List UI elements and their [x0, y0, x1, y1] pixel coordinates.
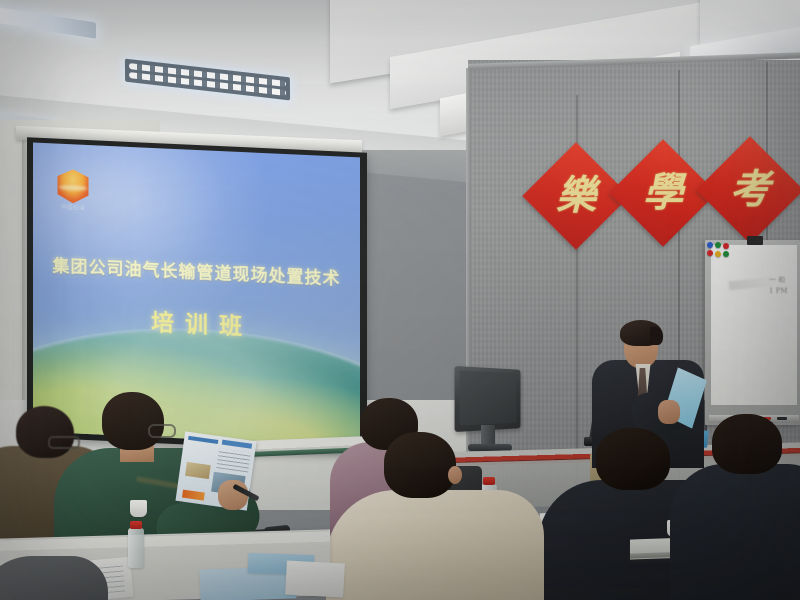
whiteboard-magnets[interactable]: [707, 242, 741, 260]
magnet-icon[interactable]: [723, 251, 729, 257]
magnet-icon[interactable]: [715, 251, 721, 257]
petrochina-logo-caption: 中国石油: [53, 202, 93, 212]
monitor-panel: [460, 370, 517, 425]
attendee-torso: [670, 464, 800, 600]
attendee-cream-jacket: [330, 432, 540, 600]
water-bottle-front[interactable]: [128, 528, 144, 568]
presenter-hand: [658, 400, 680, 424]
whiteboard[interactable]: 一 和 1 PM: [705, 240, 800, 425]
calligraphy-character: 學: [625, 155, 701, 231]
attendee-ear: [448, 466, 462, 484]
magnet-icon[interactable]: [723, 243, 729, 249]
magnet-icon[interactable]: [715, 242, 721, 248]
petrochina-logo: 中国石油: [55, 169, 91, 217]
attendee-torso: [326, 490, 544, 600]
attendee-head: [596, 428, 670, 490]
whiteboard-surface[interactable]: 一 和 1 PM: [711, 245, 797, 405]
whiteboard-handwriting-line-2: 1 PM: [769, 286, 800, 297]
whiteboard-handwriting-line-1: 一 和: [769, 275, 800, 286]
attendee-dark-suit-right: [684, 414, 800, 600]
glasses-icon: [148, 424, 176, 438]
training-room-photo: 中国石油 集团公司油气长输管道现场处置技术 培训班 樂 學 考 一 和 1 PM: [0, 0, 800, 600]
paper-cup-left[interactable]: [130, 500, 147, 517]
attendee-foreground-gray: [0, 556, 108, 600]
notes-front-center[interactable]: [285, 561, 345, 598]
recessed-grid-light-icon: [125, 59, 290, 101]
whiteboard-handwriting: 一 和 1 PM: [769, 275, 800, 303]
attendee-head: [102, 392, 164, 450]
calligraphy-plaque-third: 考: [696, 136, 800, 243]
presenter-hair: [620, 320, 662, 346]
petrochina-sun-icon: [55, 169, 91, 205]
lcd-monitor[interactable]: [455, 366, 521, 432]
magnet-icon[interactable]: [707, 242, 713, 248]
magnet-icon[interactable]: [707, 250, 713, 256]
recessed-linear-light-icon: [0, 5, 96, 38]
calligraphy-character: 樂: [538, 158, 614, 234]
attendee-head: [712, 414, 782, 474]
whiteboard-clip[interactable]: [747, 236, 763, 245]
calligraphy-character: 考: [712, 152, 788, 228]
attendee-head: [384, 432, 456, 498]
